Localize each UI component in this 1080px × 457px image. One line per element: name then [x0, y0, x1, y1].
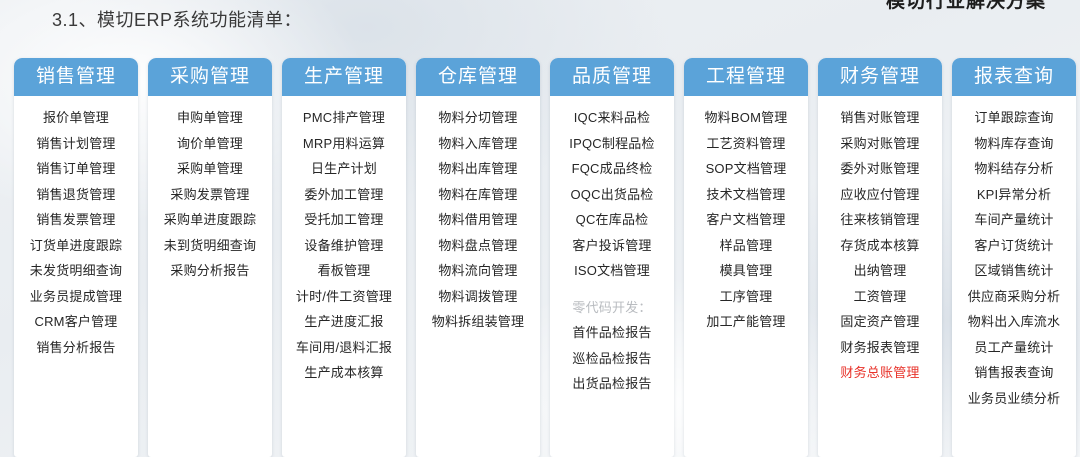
module-card-body: IQC来料品检IPQC制程品检FQC成品终检OQC出货品检QC在库品检客户投诉管…: [550, 96, 674, 407]
module-card-header[interactable]: 财务管理: [818, 58, 942, 96]
module-feature-item[interactable]: 销售订单管理: [36, 156, 115, 182]
module-feature-item[interactable]: 财务总账管理: [840, 360, 919, 386]
module-feature-item[interactable]: 委外加工管理: [304, 182, 383, 208]
module-feature-item[interactable]: 物料调拨管理: [438, 284, 517, 310]
module-card-body: 销售对账管理采购对账管理委外对账管理应收应付管理往来核销管理存货成本核算出纳管理…: [818, 96, 942, 396]
module-feature-item[interactable]: 未到货明细查询: [164, 233, 256, 259]
module-feature-item[interactable]: 销售退货管理: [36, 182, 115, 208]
module-feature-item[interactable]: 应收应付管理: [840, 182, 919, 208]
module-feature-item[interactable]: 物料出入库流水: [968, 309, 1060, 335]
module-feature-item[interactable]: 首件品检报告: [572, 320, 651, 346]
module-card-header[interactable]: 报表查询: [952, 58, 1076, 96]
module-feature-item[interactable]: 未发货明细查询: [30, 258, 122, 284]
module-feature-item[interactable]: 物料入库管理: [438, 131, 517, 157]
module-card-header[interactable]: 仓库管理: [416, 58, 540, 96]
module-feature-item[interactable]: 技术文档管理: [706, 182, 785, 208]
module-feature-item[interactable]: 订单跟踪查询: [974, 105, 1053, 131]
clipped-top-right-heading: 模切行业解决方案: [886, 0, 1046, 13]
module-feature-item[interactable]: 业务员业绩分析: [968, 386, 1060, 412]
module-feature-item[interactable]: 采购发票管理: [170, 182, 249, 208]
module-feature-item[interactable]: 日生产计划: [311, 156, 377, 182]
module-feature-item[interactable]: 销售分析报告: [36, 335, 115, 361]
module-feature-item[interactable]: 销售计划管理: [36, 131, 115, 157]
module-card-body: 报价单管理销售计划管理销售订单管理销售退货管理销售发票管理订货单进度跟踪未发货明…: [14, 96, 138, 370]
module-feature-item[interactable]: 模具管理: [720, 258, 773, 284]
module-feature-item[interactable]: 销售报表查询: [974, 360, 1053, 386]
module-feature-item[interactable]: 客户投诉管理: [572, 233, 651, 259]
module-feature-item[interactable]: 物料流向管理: [438, 258, 517, 284]
module-feature-item[interactable]: QC在库品检: [576, 207, 649, 233]
module-card: 采购管理申购单管理询价单管理采购单管理采购发票管理采购单进度跟踪未到货明细查询采…: [148, 58, 272, 457]
module-feature-item[interactable]: 采购单管理: [177, 156, 243, 182]
module-feature-item[interactable]: 客户订货统计: [974, 233, 1053, 259]
module-feature-item[interactable]: 加工产能管理: [706, 309, 785, 335]
slide-root: 模切行业解决方案 3.1、模切ERP系统功能清单： 销售管理报价单管理销售计划管…: [0, 0, 1080, 457]
module-feature-item[interactable]: 订货单进度跟踪: [30, 233, 122, 259]
module-feature-item[interactable]: 设备维护管理: [304, 233, 383, 259]
module-card: 财务管理销售对账管理采购对账管理委外对账管理应收应付管理往来核销管理存货成本核算…: [818, 58, 942, 457]
module-feature-item[interactable]: 出纳管理: [854, 258, 907, 284]
module-feature-item[interactable]: 物料分切管理: [438, 105, 517, 131]
module-card-body: 申购单管理询价单管理采购单管理采购发票管理采购单进度跟踪未到货明细查询采购分析报…: [148, 96, 272, 294]
module-card-header[interactable]: 品质管理: [550, 58, 674, 96]
module-feature-item[interactable]: 物料在库管理: [438, 182, 517, 208]
module-feature-item[interactable]: 员工产量统计: [974, 335, 1053, 361]
module-card: 工程管理物料BOM管理工艺资料管理SOP文档管理技术文档管理客户文档管理样品管理…: [684, 58, 808, 457]
page-title: 3.1、模切ERP系统功能清单：: [52, 6, 302, 32]
module-card-header[interactable]: 生产管理: [282, 58, 406, 96]
module-feature-item[interactable]: 销售发票管理: [36, 207, 115, 233]
module-card: 生产管理PMC排产管理MRP用料运算日生产计划委外加工管理受托加工管理设备维护管…: [282, 58, 406, 457]
module-feature-item[interactable]: 物料拆组装管理: [432, 309, 524, 335]
module-feature-item[interactable]: IQC来料品检: [574, 105, 651, 131]
module-feature-item[interactable]: 物料库存查询: [974, 131, 1053, 157]
module-card-header[interactable]: 工程管理: [684, 58, 808, 96]
module-feature-item[interactable]: 报价单管理: [43, 105, 109, 131]
module-feature-item[interactable]: 物料借用管理: [438, 207, 517, 233]
module-feature-item[interactable]: 受托加工管理: [304, 207, 383, 233]
module-feature-item[interactable]: 采购分析报告: [170, 258, 249, 284]
module-card: 销售管理报价单管理销售计划管理销售订单管理销售退货管理销售发票管理订货单进度跟踪…: [14, 58, 138, 457]
module-feature-item[interactable]: PMC排产管理: [303, 105, 385, 131]
module-card: 品质管理IQC来料品检IPQC制程品检FQC成品终检OQC出货品检QC在库品检客…: [550, 58, 674, 457]
module-feature-item[interactable]: 巡检品检报告: [572, 346, 651, 372]
module-feature-item[interactable]: CRM客户管理: [34, 309, 117, 335]
module-feature-item[interactable]: 固定资产管理: [840, 309, 919, 335]
module-card: 报表查询订单跟踪查询物料库存查询物料结存分析KPI异常分析车间产量统计客户订货统…: [952, 58, 1076, 457]
module-feature-item[interactable]: SOP文档管理: [706, 156, 787, 182]
module-feature-item[interactable]: 车间产量统计: [974, 207, 1053, 233]
module-feature-item[interactable]: 生产进度汇报: [304, 309, 383, 335]
module-feature-item[interactable]: 财务报表管理: [840, 335, 919, 361]
module-feature-item[interactable]: 业务员提成管理: [30, 284, 122, 310]
module-feature-item[interactable]: 往来核销管理: [840, 207, 919, 233]
module-card-body: PMC排产管理MRP用料运算日生产计划委外加工管理受托加工管理设备维护管理看板管…: [282, 96, 406, 396]
module-feature-item[interactable]: 客户文档管理: [706, 207, 785, 233]
module-feature-item[interactable]: 询价单管理: [177, 131, 243, 157]
module-feature-item[interactable]: 销售对账管理: [840, 105, 919, 131]
module-feature-item[interactable]: 计时/件工资管理: [296, 284, 392, 310]
module-feature-item[interactable]: 车间用/退料汇报: [296, 335, 392, 361]
module-card-header[interactable]: 销售管理: [14, 58, 138, 96]
module-feature-item[interactable]: 物料BOM管理: [704, 105, 787, 131]
module-feature-item[interactable]: 生产成本核算: [304, 360, 383, 386]
module-feature-item[interactable]: 物料盘点管理: [438, 233, 517, 259]
module-feature-item[interactable]: 采购对账管理: [840, 131, 919, 157]
module-feature-item[interactable]: KPI异常分析: [977, 182, 1051, 208]
module-feature-item[interactable]: 采购单进度跟踪: [164, 207, 256, 233]
module-feature-item[interactable]: 工资管理: [854, 284, 907, 310]
module-feature-item[interactable]: IPQC制程品检: [569, 131, 654, 157]
module-feature-item[interactable]: 区域销售统计: [974, 258, 1053, 284]
module-feature-item[interactable]: 出货品检报告: [572, 371, 651, 397]
module-feature-item[interactable]: 看板管理: [318, 258, 371, 284]
module-cards-row: 销售管理报价单管理销售计划管理销售订单管理销售退货管理销售发票管理订货单进度跟踪…: [14, 58, 1072, 457]
module-feature-item[interactable]: 供应商采购分析: [968, 284, 1060, 310]
module-feature-item[interactable]: 样品管理: [720, 233, 773, 259]
module-feature-item[interactable]: 物料结存分析: [974, 156, 1053, 182]
module-feature-item[interactable]: OQC出货品检: [570, 182, 653, 208]
module-feature-item[interactable]: 工艺资料管理: [706, 131, 785, 157]
module-group-label: 零代码开发：: [572, 295, 651, 321]
module-card: 仓库管理物料分切管理物料入库管理物料出库管理物料在库管理物料借用管理物料盘点管理…: [416, 58, 540, 457]
module-card-header[interactable]: 采购管理: [148, 58, 272, 96]
module-feature-item[interactable]: ISO文档管理: [574, 258, 650, 284]
module-card-body: 物料分切管理物料入库管理物料出库管理物料在库管理物料借用管理物料盘点管理物料流向…: [416, 96, 540, 345]
module-feature-item[interactable]: 工序管理: [720, 284, 773, 310]
module-feature-item[interactable]: 存货成本核算: [840, 233, 919, 259]
module-feature-item[interactable]: MRP用料运算: [303, 131, 385, 157]
module-feature-item[interactable]: 委外对账管理: [840, 156, 919, 182]
module-feature-item[interactable]: 申购单管理: [177, 105, 243, 131]
module-feature-item[interactable]: 物料出库管理: [438, 156, 517, 182]
module-feature-item[interactable]: FQC成品终检: [572, 156, 653, 182]
module-card-body: 订单跟踪查询物料库存查询物料结存分析KPI异常分析车间产量统计客户订货统计区域销…: [952, 96, 1076, 421]
module-card-body: 物料BOM管理工艺资料管理SOP文档管理技术文档管理客户文档管理样品管理模具管理…: [684, 96, 808, 345]
